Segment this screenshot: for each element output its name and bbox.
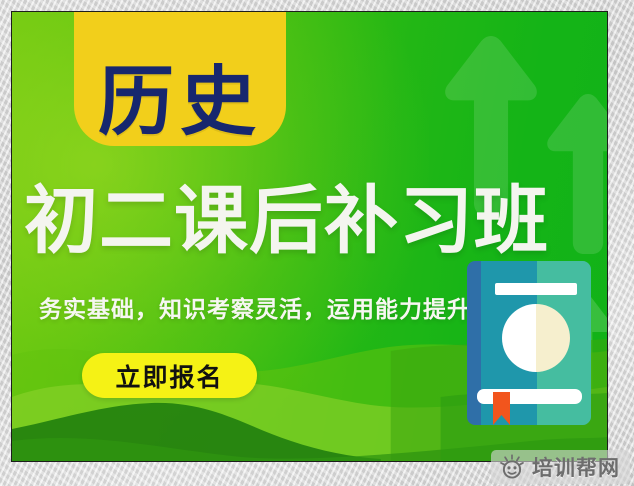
subject-badge: 历史: [74, 11, 286, 146]
screenshot-canvas: 历史 初二课后补习班 务实基础，知识考察灵活，运用能力提升 立即报名: [0, 0, 634, 486]
watermark: 培训帮网: [491, 450, 630, 484]
page-title: 初二课后补习班: [24, 184, 604, 258]
book-icon: [467, 261, 591, 425]
subtitle-text: 务实基础，知识考察灵活，运用能力提升: [39, 290, 471, 324]
subject-badge-label: 历史: [98, 64, 262, 140]
enroll-now-button-label: 立即报名: [115, 358, 223, 394]
enroll-now-button[interactable]: 立即报名: [82, 353, 257, 398]
sun-face-icon: [499, 454, 525, 480]
course-promo-banner: 历史 初二课后补习班 务实基础，知识考察灵活，运用能力提升 立即报名: [11, 11, 608, 462]
watermark-label: 培训帮网: [532, 452, 620, 482]
